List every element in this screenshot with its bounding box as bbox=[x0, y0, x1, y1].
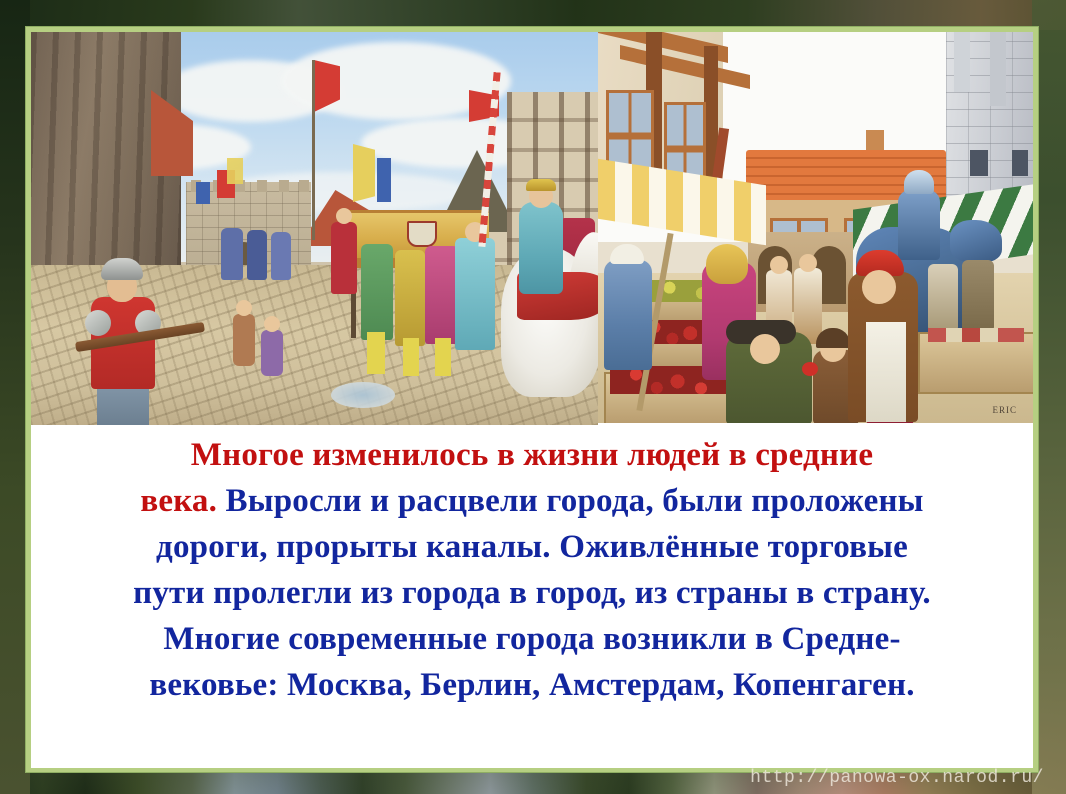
slide: ERIC Многое изменилось в жизни людей в с… bbox=[0, 0, 1066, 794]
text-segment: Многое изменилось в жизни людей в средни… bbox=[191, 437, 873, 473]
crowd-figure bbox=[247, 230, 267, 280]
castle-window bbox=[1012, 150, 1028, 176]
background-figure-head bbox=[770, 256, 788, 274]
market-maid bbox=[604, 260, 652, 370]
crowd-figure bbox=[425, 246, 459, 344]
crowd-figure bbox=[361, 244, 393, 340]
child-head bbox=[236, 300, 252, 316]
crenellation bbox=[257, 180, 267, 192]
crowd-figure bbox=[221, 228, 243, 280]
text-segment: вековье: Москва, Берлин, Амстердам, Копе… bbox=[149, 667, 914, 703]
crowd-figure-head bbox=[336, 208, 352, 224]
text-line-3: дороги, прорыты каналы. Оживлённые торго… bbox=[31, 524, 1033, 570]
text-segment: века. bbox=[140, 483, 217, 519]
child-figure bbox=[233, 314, 255, 366]
horse-head bbox=[950, 220, 1002, 262]
child-head bbox=[264, 316, 280, 332]
text-line-6: вековье: Москва, Берлин, Амстердам, Копе… bbox=[31, 662, 1033, 708]
merchant-head bbox=[750, 334, 780, 364]
knight-rider bbox=[519, 202, 563, 294]
castle-buttress bbox=[990, 32, 1006, 106]
text-line-4: пути пролегли из города в город, из стра… bbox=[31, 570, 1033, 616]
banner-flag bbox=[196, 182, 210, 204]
text-line-2: века. Выросли и расцвели города, были пр… bbox=[31, 478, 1033, 524]
apple bbox=[802, 362, 818, 376]
crowd-legs bbox=[367, 332, 385, 374]
background-top-band bbox=[0, 0, 1066, 30]
artist-signature: ERIC bbox=[992, 405, 1017, 415]
crowd-legs bbox=[435, 338, 451, 376]
knight-crown bbox=[526, 179, 556, 191]
meat-goods bbox=[928, 328, 1024, 342]
slide-text: Многое изменилось в жизни людей в средни… bbox=[31, 432, 1033, 762]
text-segment: пути пролегли из города в город, из стра… bbox=[133, 575, 931, 611]
crowd-figure bbox=[331, 222, 357, 294]
soldier-legs bbox=[97, 384, 149, 425]
crowd-figure bbox=[395, 250, 425, 346]
banner-flag bbox=[227, 158, 243, 184]
text-segment: дороги, прорыты каналы. Оживлённые торго… bbox=[156, 529, 908, 565]
illustration-medieval-street bbox=[31, 32, 598, 425]
castle-buttress bbox=[954, 32, 970, 92]
white-apron bbox=[866, 322, 906, 422]
vendor-head bbox=[862, 270, 896, 304]
golden-hair bbox=[706, 244, 748, 284]
crowd-figure bbox=[455, 238, 495, 350]
text-segment: Выросли и расцвели города, были проложен… bbox=[217, 483, 924, 519]
banner-flag bbox=[377, 158, 391, 202]
text-line-1: Многое изменилось в жизни людей в средни… bbox=[31, 432, 1033, 478]
castle-window bbox=[970, 150, 988, 176]
heraldic-shield bbox=[407, 221, 437, 247]
white-cap bbox=[610, 244, 644, 264]
illustrations-row: ERIC bbox=[31, 32, 1033, 425]
crenellation bbox=[299, 180, 309, 192]
knight-in-blue-armour bbox=[898, 190, 940, 260]
crowd-figure bbox=[271, 232, 291, 280]
child-figure bbox=[261, 330, 283, 376]
background-figure-head bbox=[799, 254, 817, 272]
knight-helmet-icon bbox=[904, 170, 934, 194]
pauldron bbox=[85, 310, 111, 336]
text-line-5: Многие современные города возникли в Сре… bbox=[31, 616, 1033, 662]
stall-shopper bbox=[928, 264, 958, 330]
source-watermark: http://panowa-ox.narod.ru/ bbox=[750, 768, 1044, 788]
illustration-medieval-market: ERIC bbox=[598, 32, 1033, 423]
steel-helmet-icon bbox=[101, 258, 143, 280]
banner-flag bbox=[353, 144, 375, 202]
flag-pole bbox=[312, 60, 315, 240]
puddle bbox=[331, 382, 395, 408]
crenellation bbox=[279, 180, 289, 192]
text-segment: Многие современные города возникли в Сре… bbox=[163, 621, 900, 657]
crowd-legs bbox=[403, 338, 419, 376]
stall-shopper bbox=[962, 260, 994, 330]
